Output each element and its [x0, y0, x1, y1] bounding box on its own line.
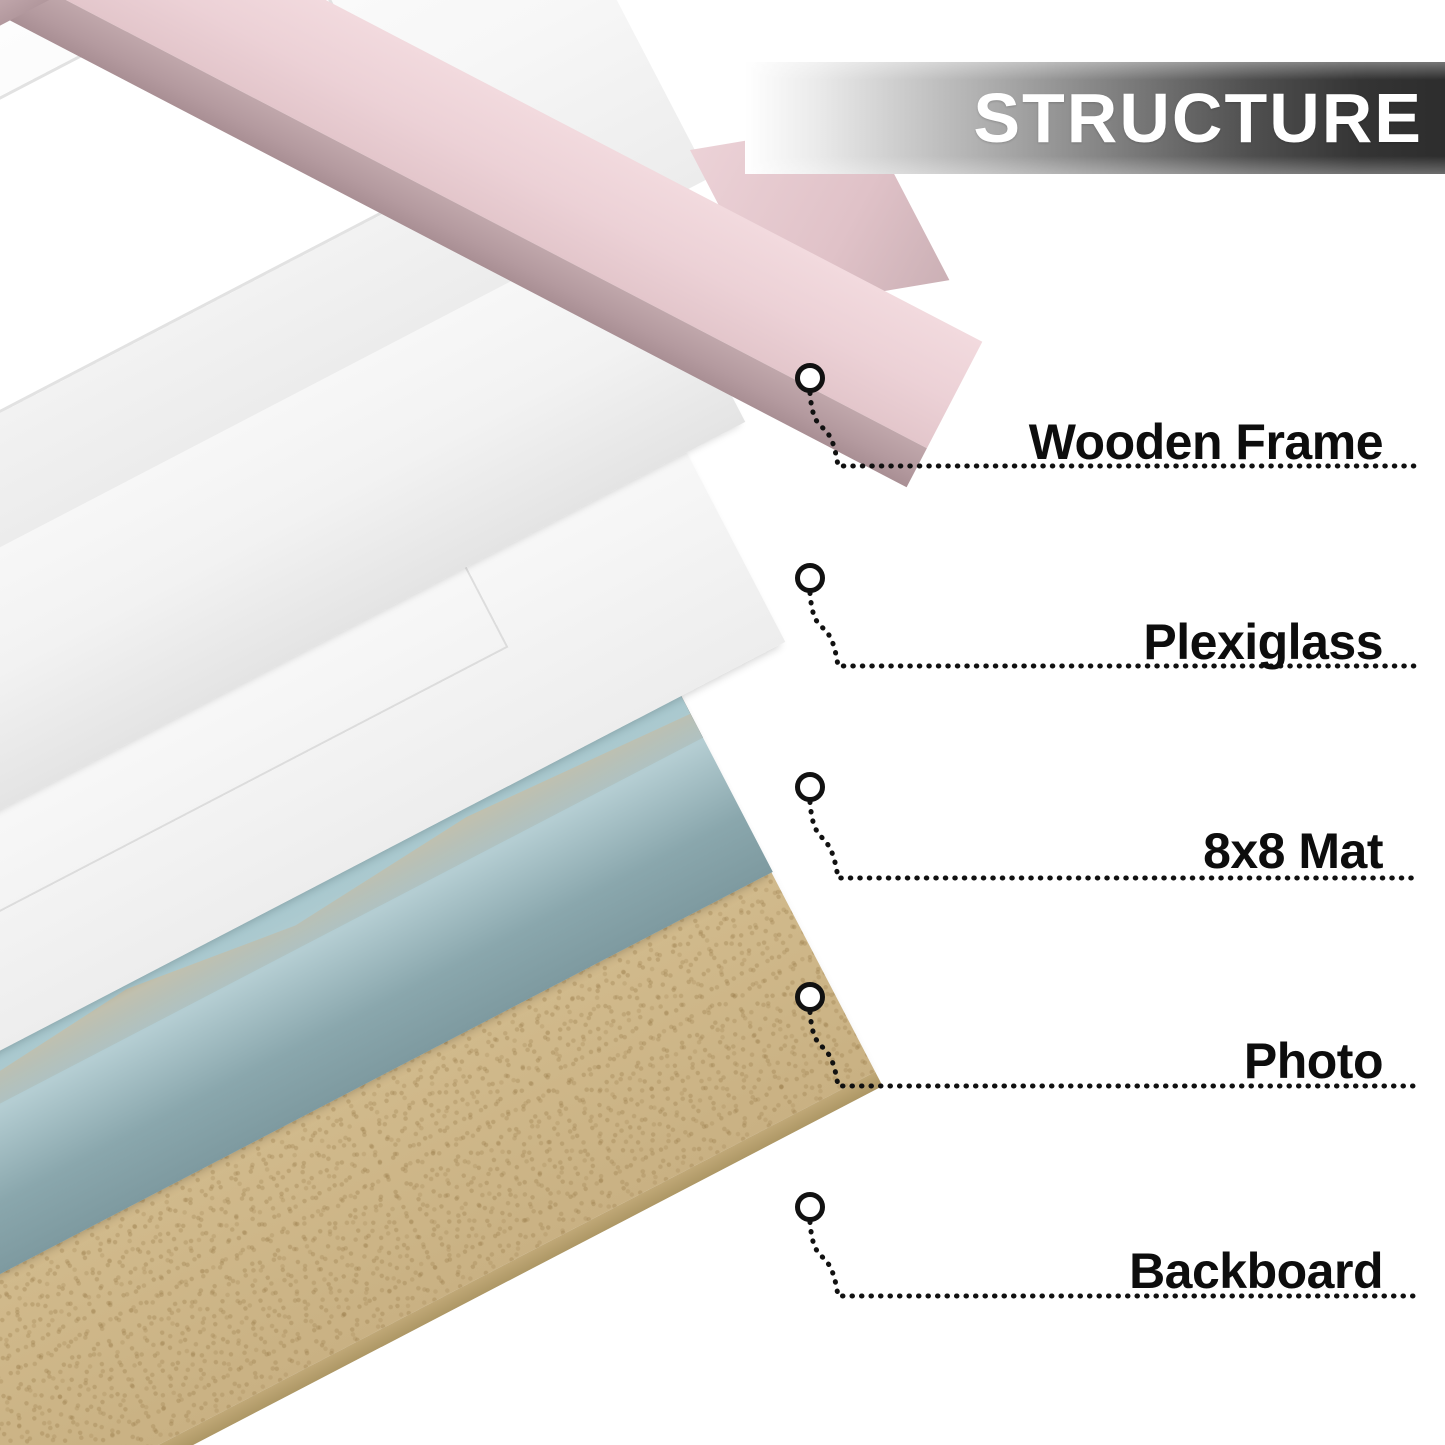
- callout-label-photo: Photo: [1244, 1032, 1383, 1090]
- callout-marker-photo[interactable]: [795, 982, 825, 1012]
- infographic-canvas: STRUCTURE Wooden FramePlexiglass8x8 MatP…: [0, 0, 1445, 1445]
- callout-marker-backboard[interactable]: [795, 1192, 825, 1222]
- callout-marker-mat[interactable]: [795, 772, 825, 802]
- exploded-frame-illustration: [0, 0, 1010, 1445]
- callout-marker-plexiglass[interactable]: [795, 563, 825, 593]
- callout-label-mat: 8x8 Mat: [1203, 822, 1383, 880]
- callout-label-backboard: Backboard: [1129, 1242, 1383, 1300]
- page-title: STRUCTURE: [745, 62, 1423, 174]
- callout-marker-wooden-frame[interactable]: [795, 363, 825, 393]
- callout-label-wooden-frame: Wooden Frame: [1029, 413, 1383, 471]
- callout-label-plexiglass: Plexiglass: [1143, 613, 1383, 671]
